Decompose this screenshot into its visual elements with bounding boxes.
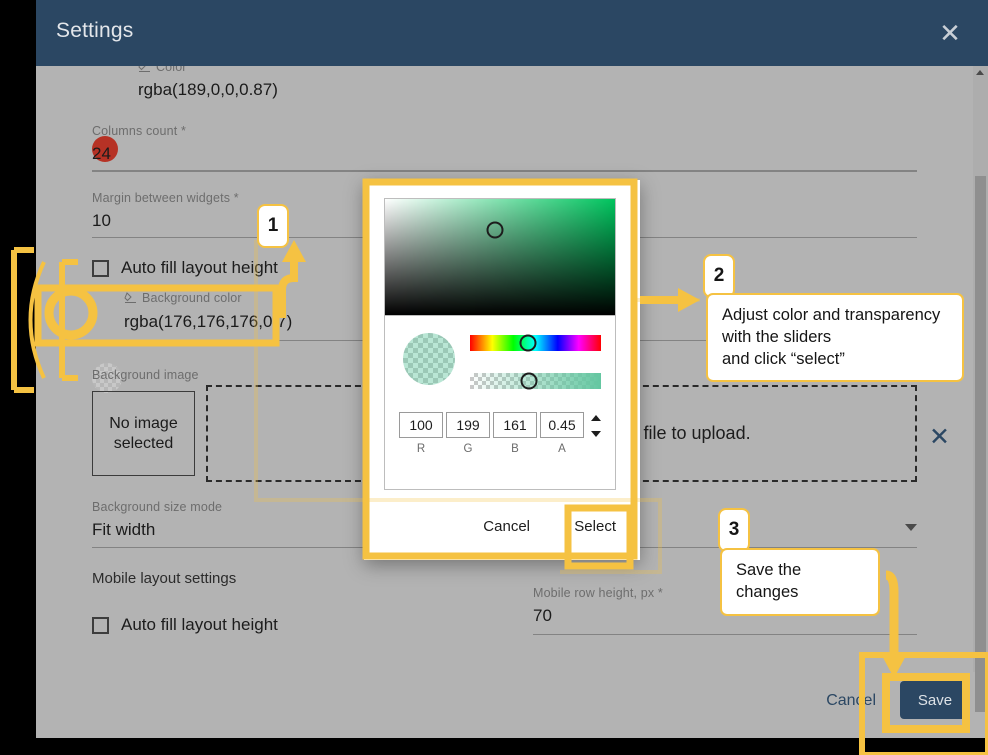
color-picker-actions: Cancel Select <box>364 512 640 546</box>
annotation-callout-2: Adjust color and transparency with the s… <box>706 293 964 382</box>
mobile-row-height-underline <box>533 634 917 635</box>
a-input[interactable]: 0.45 <box>540 412 584 438</box>
r-input[interactable]: 100 <box>399 412 443 438</box>
background-color-label: Background color <box>142 291 242 305</box>
no-image-selected-box: No imageselected <box>92 391 195 476</box>
background-image-label: Background image <box>92 368 199 382</box>
alpha-slider-handle[interactable] <box>520 373 537 390</box>
color-field-label: Color <box>156 66 187 74</box>
annotation-badge-2: 2 <box>703 254 735 298</box>
hue-slider-handle[interactable] <box>519 335 536 352</box>
rgba-channel-g[interactable]: 199 G <box>446 412 490 455</box>
a-label: A <box>540 443 584 455</box>
scrollbar-thumb[interactable] <box>975 176 986 712</box>
rgba-channel-r[interactable]: 100 R <box>399 412 443 455</box>
saturation-handle[interactable] <box>487 222 504 239</box>
mobile-row-height-field[interactable]: Mobile row height, px * 70 <box>533 586 663 626</box>
spinner-up-icon[interactable] <box>591 415 601 421</box>
page-title: Settings <box>56 19 133 43</box>
background-color-field[interactable]: Background color rgba(176,176,176,0.7) <box>92 291 292 332</box>
columns-count-underline <box>92 170 917 171</box>
close-icon[interactable]: ✕ <box>934 17 966 49</box>
up-down-spinner-icon[interactable] <box>591 415 603 437</box>
color-preview-swatch <box>403 333 455 385</box>
color-picker-popup[interactable]: 100 R 199 G 161 B 0.45 A <box>364 180 640 560</box>
annotation-callout-3: Save the changes <box>720 548 880 616</box>
color-picker-controls: 100 R 199 G 161 B 0.45 A <box>384 316 616 490</box>
dialog-header: Settings ✕ <box>36 0 988 66</box>
color-field[interactable]: Color rgba(189,0,0,0.87) <box>92 66 917 100</box>
rgba-channel-a[interactable]: 0.45 A <box>540 412 584 455</box>
auto-fill-layout-height-row[interactable]: Auto fill layout height <box>92 258 278 278</box>
rgba-channel-b[interactable]: 161 B <box>493 412 537 455</box>
annotation-badge-1: 1 <box>257 204 289 248</box>
mobile-row-height-label: Mobile row height, px * <box>533 586 663 600</box>
r-label: R <box>399 443 443 455</box>
g-label: G <box>446 443 490 455</box>
dialog-footer: Cancel Save <box>36 672 988 738</box>
margin-field[interactable]: Margin between widgets * 10 <box>92 191 239 231</box>
scroll-up-icon[interactable] <box>976 70 984 75</box>
auto-fill-layout-height-checkbox[interactable] <box>92 260 109 277</box>
cancel-button[interactable]: Cancel <box>826 692 876 710</box>
columns-count-label: Columns count * <box>92 124 186 138</box>
annotation-badge-3: 3 <box>718 508 750 552</box>
mobile-layout-section-title: Mobile layout settings <box>92 570 236 587</box>
paint-format-icon <box>124 292 137 306</box>
alpha-slider[interactable] <box>470 373 601 389</box>
color-picker-select-button[interactable]: Select <box>574 518 616 535</box>
background-color-value: rgba(176,176,176,0.7) <box>124 312 292 332</box>
mobile-auto-fill-label: Auto fill layout height <box>121 615 278 635</box>
columns-count-value: 24 <box>92 144 186 164</box>
color-picker-inner: 100 R 199 G 161 B 0.45 A <box>384 198 620 508</box>
screenshot-root: Settings ✕ Color rgba(189,0,0,0.87) Colu… <box>0 0 988 755</box>
auto-fill-layout-height-label: Auto fill layout height <box>121 258 278 278</box>
mobile-auto-fill-row[interactable]: Auto fill layout height <box>92 615 278 635</box>
color-field-underline <box>92 171 917 172</box>
vertical-scrollbar[interactable] <box>973 66 988 672</box>
hue-slider[interactable] <box>470 335 601 351</box>
margin-label: Margin between widgets * <box>92 191 239 205</box>
mobile-row-height-value: 70 <box>533 606 663 626</box>
color-field-value: rgba(189,0,0,0.87) <box>138 80 917 100</box>
b-label: B <box>493 443 537 455</box>
b-input[interactable]: 161 <box>493 412 537 438</box>
paint-format-icon <box>138 66 151 74</box>
g-input[interactable]: 199 <box>446 412 490 438</box>
margin-value: 10 <box>92 211 239 231</box>
columns-count-field[interactable]: Columns count * 24 <box>92 124 186 164</box>
chevron-down-icon[interactable] <box>905 524 917 531</box>
clear-image-icon[interactable]: ✕ <box>929 425 950 450</box>
mobile-auto-fill-checkbox[interactable] <box>92 617 109 634</box>
saturation-value-area[interactable] <box>384 198 616 316</box>
save-button[interactable]: Save <box>900 681 970 719</box>
spinner-down-icon[interactable] <box>591 431 601 437</box>
color-picker-cancel-button[interactable]: Cancel <box>483 518 530 535</box>
